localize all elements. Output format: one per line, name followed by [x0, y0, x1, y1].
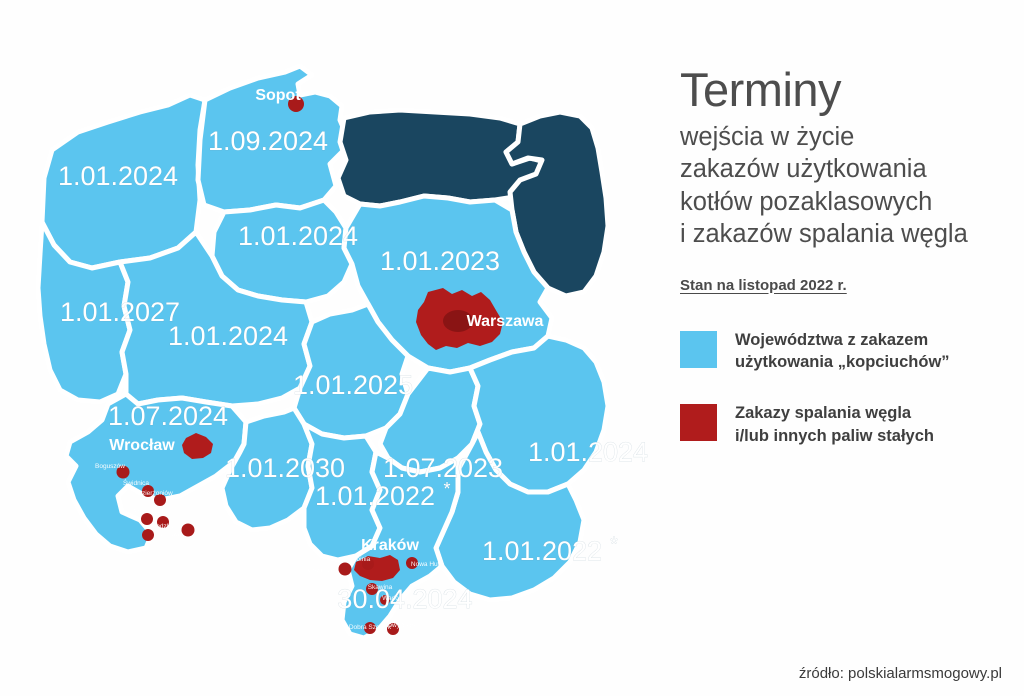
subtitle-line-3: kotłów pozaklasowych [680, 186, 1006, 218]
map-date-pomorskie: 1.09.2024 [208, 126, 328, 156]
small-city-label: Boguszów [95, 463, 125, 470]
subtitle-line-1: wejścia w życie [680, 121, 1006, 153]
poland-map-panel: OświęcimTrzebiniaNowa HutaSkawinaWadowic… [0, 0, 672, 696]
dot-bielawa [142, 529, 154, 541]
small-city-label: Nowa Huta [411, 561, 444, 568]
map-date-malopolskie: 30.04.2024 [337, 584, 472, 614]
small-city-label: Kłodzko [150, 523, 174, 530]
map-date-opolskie: 1.01.2030 [225, 453, 345, 483]
map-date-dolnoslaskie: 1.07.2024 [108, 401, 228, 431]
city-label-sopot: Sopot [255, 87, 301, 104]
map-date-slaskie: 1.01.2022 [315, 481, 435, 511]
map-date-lubuskie: 1.01.2027 [60, 297, 180, 327]
red-swatch-icon [680, 404, 717, 441]
status-note: Stan na listopad 2022 r. [680, 277, 847, 294]
city-label-wrocław: Wrocław [109, 437, 175, 454]
page-title: Terminy [680, 66, 1006, 113]
small-city-label: Bielawa [159, 531, 182, 538]
map-date-lubelskie: 1.01.2024 [528, 437, 648, 467]
map-date-mazowieckie: 1.01.2023 [380, 246, 500, 276]
subtitle-line-4: i zakazów spalania węgla [680, 218, 1006, 250]
small-city-label: Świdnica [123, 478, 149, 487]
legend: Województwa z zakazem użytkowania „kopci… [680, 329, 1006, 448]
map-date-asterisk-podkarpackie: * [610, 534, 617, 554]
legend-blue-line-2: użytkowania „kopciuchów” [735, 351, 950, 374]
side-panel: Terminy wejścia w życie zakazów użytkowa… [672, 0, 1024, 696]
small-city-label: Oświęcim [308, 567, 336, 574]
small-city-label: Nowa Ruda [133, 508, 167, 515]
map-date-zachodniopomorskie: 1.01.2024 [58, 161, 178, 191]
city-label-warszawa: Warszawa [467, 313, 544, 330]
poland-map-svg: OświęcimTrzebiniaNowa HutaSkawinaWadowic… [0, 0, 672, 696]
legend-text-red: Zakazy spalania węgla i/lub innych paliw… [735, 402, 934, 448]
map-date-podkarpackie: 1.01.2022 [482, 536, 602, 566]
legend-item-blue: Województwa z zakazem użytkowania „kopci… [680, 329, 1006, 375]
blue-swatch-icon [680, 331, 717, 368]
map-date-asterisk-slaskie: * [443, 479, 450, 499]
map-date-kujawsko-pomorskie: 1.01.2024 [238, 221, 358, 251]
legend-blue-line-1: Województwa z zakazem [735, 329, 950, 352]
dot-oswiecim [339, 563, 352, 576]
dot-lower-silesia-east [182, 524, 195, 537]
legend-text-blue: Województwa z zakazem użytkowania „kopci… [735, 329, 950, 375]
source-attribution: źródło: polskialarmsmogowy.pl [799, 665, 1002, 682]
page-subtitle: wejścia w życie zakazów użytkowania kotł… [680, 121, 1006, 251]
map-date-wielkopolskie: 1.01.2024 [168, 321, 288, 351]
small-city-label: Dzierżoniów [137, 490, 173, 497]
infographic-page: OświęcimTrzebiniaNowa HutaSkawinaWadowic… [0, 0, 1024, 696]
map-date-lodzkie: 1.01.2025 [293, 370, 413, 400]
subtitle-line-2: zakazów użytkowania [680, 153, 1006, 185]
small-city-label: Trzebinia [344, 556, 371, 563]
legend-red-line-2: i/lub innych paliw stałych [735, 425, 934, 448]
city-label-kraków: Kraków [361, 537, 419, 554]
legend-red-line-1: Zakazy spalania węgla [735, 402, 934, 425]
legend-item-red: Zakazy spalania węgla i/lub innych paliw… [680, 402, 1006, 448]
small-city-label: Dobra Szczyrk [349, 624, 392, 631]
